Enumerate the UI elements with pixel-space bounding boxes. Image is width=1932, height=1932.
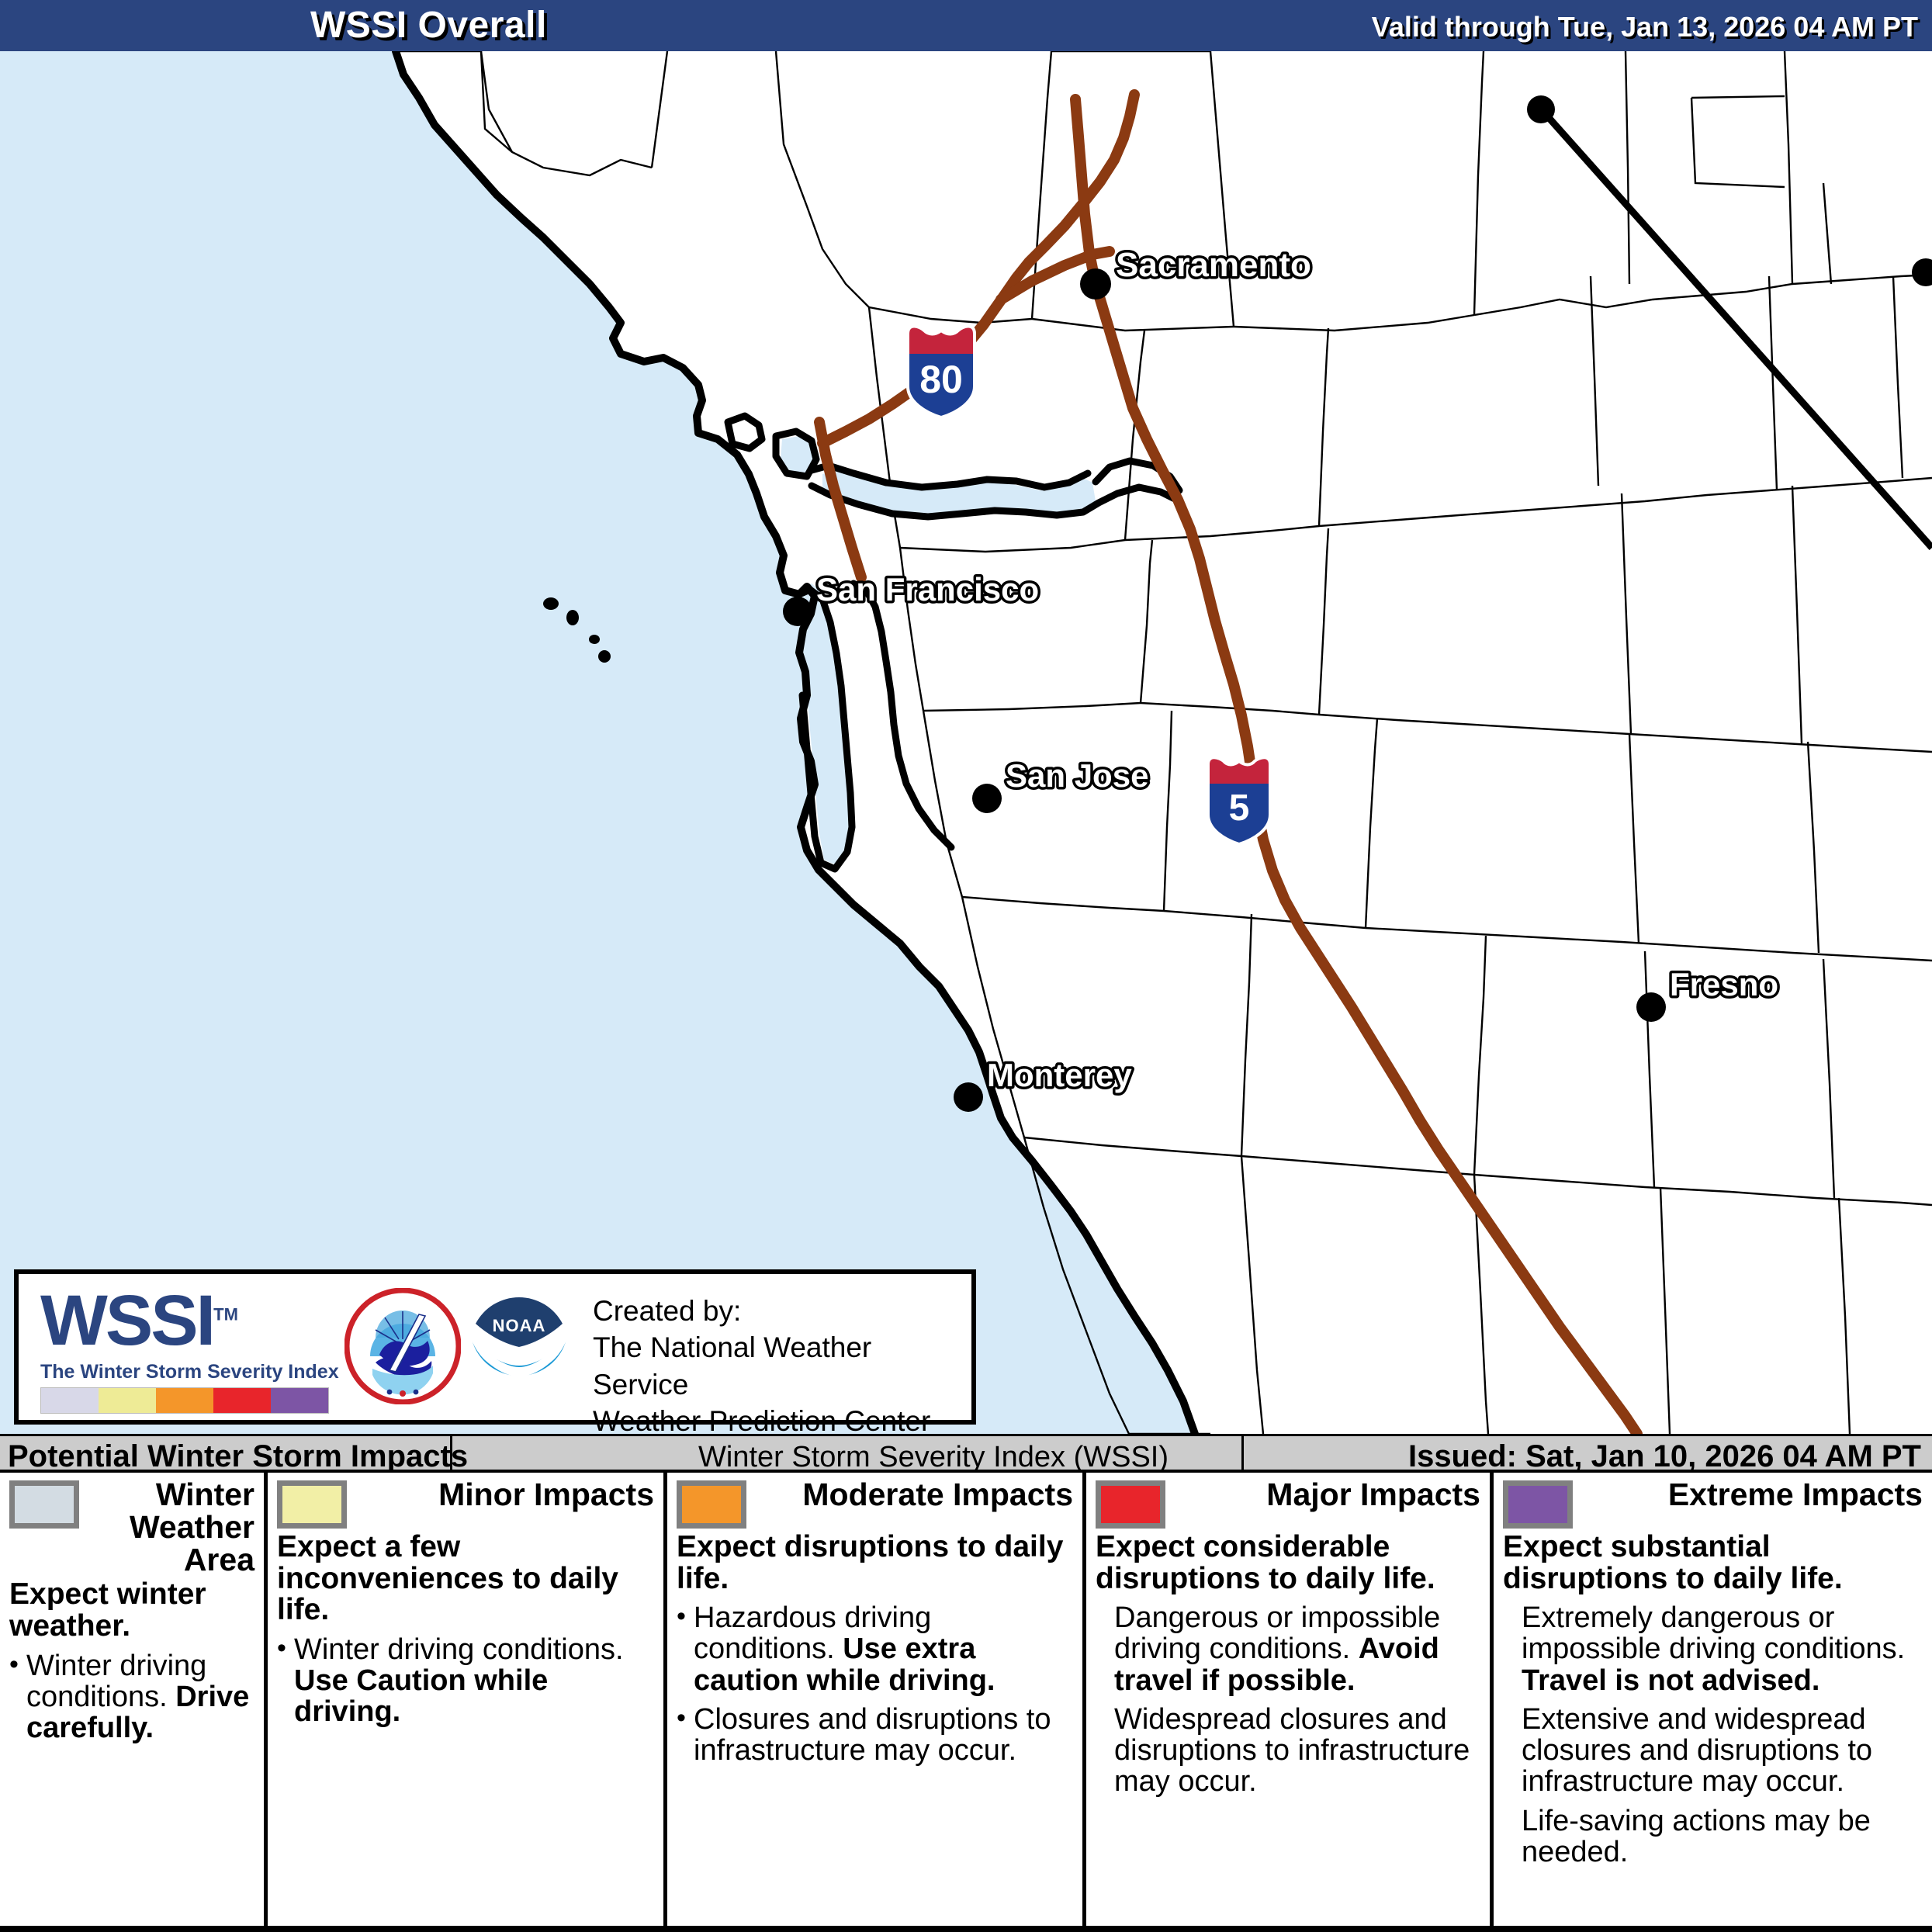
impacts-legend: Winter Weather Area Expect winter weathe… xyxy=(0,1473,1932,1932)
strip-swatch-winter-weather xyxy=(41,1388,99,1413)
national-weather-service-logo xyxy=(345,1288,461,1404)
city-dot-monterey xyxy=(954,1082,983,1112)
city-label-sacramento: Sacramento xyxy=(1116,246,1311,284)
legend-summary-minor-impacts: Expect a few inconveniences to daily lif… xyxy=(277,1532,654,1626)
bullet-bold: Travel is not advised. xyxy=(1522,1664,1819,1697)
wssi-color-strip xyxy=(40,1387,329,1414)
legend-title-major-impacts: Major Impacts xyxy=(1173,1479,1480,1511)
status-bar-divider-1 xyxy=(450,1436,452,1470)
legend-summary-extreme-impacts: Expect substantial disruptions to daily … xyxy=(1503,1532,1923,1594)
legend-bullet: • Closures and disruptions to infrastruc… xyxy=(677,1704,1073,1767)
svg-text:NOAA: NOAA xyxy=(493,1316,546,1335)
shield-i80-number: 80 xyxy=(919,358,963,401)
city-dot-san-francisco xyxy=(783,597,812,626)
city-dot-san-jose xyxy=(972,784,1002,813)
legend-title-extreme-impacts: Extreme Impacts xyxy=(1581,1479,1923,1511)
wssi-logo-box: WSSITM The Winter Storm Severity Index xyxy=(14,1269,976,1425)
page-header: WSSI Overall Valid through Tue, Jan 13, … xyxy=(0,0,1932,51)
legend-title-winter-weather-area: Winter Weather Area xyxy=(87,1479,254,1576)
map-canvas[interactable]: 80 5 Sacramento San Francisco San Jose xyxy=(0,51,1932,1434)
legend-bullet-text: Dangerous or impossible driving conditio… xyxy=(1096,1602,1480,1696)
wssi-acronym-text: WSSI xyxy=(40,1281,213,1360)
bullet-dot-icon: • xyxy=(677,1602,694,1696)
strip-swatch-moderate xyxy=(156,1388,213,1413)
shield-i5[interactable]: 5 xyxy=(1208,757,1270,844)
legend-column-moderate-impacts[interactable]: Moderate Impacts Expect disruptions to d… xyxy=(663,1473,1082,1926)
city-label-san-jose: San Jose xyxy=(1006,757,1148,794)
legend-header: Winter Weather Area xyxy=(9,1479,254,1576)
bullet-bold: Use Caution while driving. xyxy=(294,1664,548,1728)
legend-swatch-major-impacts xyxy=(1096,1480,1165,1529)
bullet-dot-icon: • xyxy=(277,1634,294,1728)
created-by-line-2: The National Weather Service xyxy=(593,1329,971,1403)
status-bar-divider-2 xyxy=(1241,1436,1244,1470)
city-label-monterey: Monterey xyxy=(987,1057,1132,1093)
legend-title-minor-impacts: Minor Impacts xyxy=(355,1479,654,1511)
legend-header: Major Impacts xyxy=(1096,1479,1480,1529)
legend-header: Extreme Impacts xyxy=(1503,1479,1923,1529)
bullet-dot-icon: • xyxy=(9,1650,26,1744)
legend-bullet-text: Widespread closures and disruptions to i… xyxy=(1096,1704,1480,1798)
created-by-line-1: Created by: xyxy=(593,1293,971,1329)
legend-bullet-text: Extensive and widespread closures and di… xyxy=(1503,1704,1923,1798)
status-bar-left-label: Potential Winter Storm Impacts xyxy=(8,1439,468,1474)
legend-column-winter-weather-area[interactable]: Winter Weather Area Expect winter weathe… xyxy=(0,1473,264,1926)
status-bar-issued-label: Issued: Sat, Jan 10, 2026 04 AM PT xyxy=(1408,1439,1921,1474)
legend-swatch-winter-weather-area xyxy=(9,1480,79,1529)
bullet-plain: Extremely dangerous or impossible drivin… xyxy=(1522,1601,1905,1665)
legend-swatch-minor-impacts xyxy=(277,1480,347,1529)
strip-swatch-extreme xyxy=(271,1388,328,1413)
noaa-logo: NOAA xyxy=(461,1288,577,1404)
legend-bullet-text: Extremely dangerous or impossible drivin… xyxy=(1503,1602,1923,1696)
legend-bullet-text: Winter driving conditions. Drive careful… xyxy=(26,1650,254,1744)
wssi-acronym-logo: WSSITM xyxy=(40,1280,238,1362)
legend-bullet-text: Hazardous driving conditions. Use extra … xyxy=(694,1602,1073,1696)
legend-bullet-text: Life-saving actions may be needed. xyxy=(1503,1806,1923,1868)
legend-bullet: • Hazardous driving conditions. Use extr… xyxy=(677,1602,1073,1696)
status-bar: Potential Winter Storm Impacts Winter St… xyxy=(0,1434,1932,1473)
legend-header: Moderate Impacts xyxy=(677,1479,1073,1529)
legend-swatch-moderate-impacts xyxy=(677,1480,746,1529)
legend-column-major-impacts[interactable]: Major Impacts Expect considerable disrup… xyxy=(1082,1473,1490,1926)
map-svg: 80 5 Sacramento San Francisco San Jose xyxy=(0,51,1932,1434)
legend-summary-moderate-impacts: Expect disruptions to daily life. xyxy=(677,1532,1073,1594)
legend-swatch-extreme-impacts xyxy=(1503,1480,1573,1529)
legend-header: Minor Impacts xyxy=(277,1479,654,1529)
status-bar-middle-label: Winter Storm Severity Index (WSSI) xyxy=(698,1441,1169,1474)
legend-column-minor-impacts[interactable]: Minor Impacts Expect a few inconvenience… xyxy=(264,1473,663,1926)
legend-title-moderate-impacts: Moderate Impacts xyxy=(754,1479,1073,1511)
wssi-tagline: The Winter Storm Severity Index xyxy=(40,1361,339,1383)
city-label-fresno: Fresno xyxy=(1670,966,1778,1002)
legend-column-extreme-impacts[interactable]: Extreme Impacts Expect substantial disru… xyxy=(1490,1473,1932,1926)
legend-bullet: • Winter driving conditions. Use Caution… xyxy=(277,1634,654,1728)
bullet-dot-icon: • xyxy=(677,1704,694,1767)
wssi-trademark: TM xyxy=(213,1304,238,1324)
valid-through-label: Valid through Tue, Jan 13, 2026 04 AM PT xyxy=(1372,11,1918,43)
legend-summary-winter-weather-area: Expect winter weather. xyxy=(9,1579,254,1642)
bullet-plain: Winter driving conditions. xyxy=(294,1633,624,1666)
legend-bullet: • Winter driving conditions. Drive caref… xyxy=(9,1650,254,1744)
legend-summary-major-impacts: Expect considerable disruptions to daily… xyxy=(1096,1532,1480,1594)
wssi-overall-map-page: WSSI Overall Valid through Tue, Jan 13, … xyxy=(0,0,1932,1932)
shield-i5-number: 5 xyxy=(1229,788,1250,829)
city-dot-sacramento xyxy=(1080,268,1111,299)
city-dot-fresno xyxy=(1636,992,1666,1022)
strip-swatch-minor xyxy=(99,1388,156,1413)
page-title: WSSI Overall xyxy=(310,4,547,47)
created-by-block: Created by: The National Weather Service… xyxy=(593,1293,971,1439)
strip-swatch-major xyxy=(213,1388,271,1413)
shield-i80[interactable]: 80 xyxy=(908,327,975,418)
city-label-san-francisco: San Francisco xyxy=(816,571,1039,608)
legend-bullet-text: Closures and disruptions to infrastructu… xyxy=(694,1704,1073,1767)
legend-bullet-text: Winter driving conditions. Use Caution w… xyxy=(294,1634,654,1728)
